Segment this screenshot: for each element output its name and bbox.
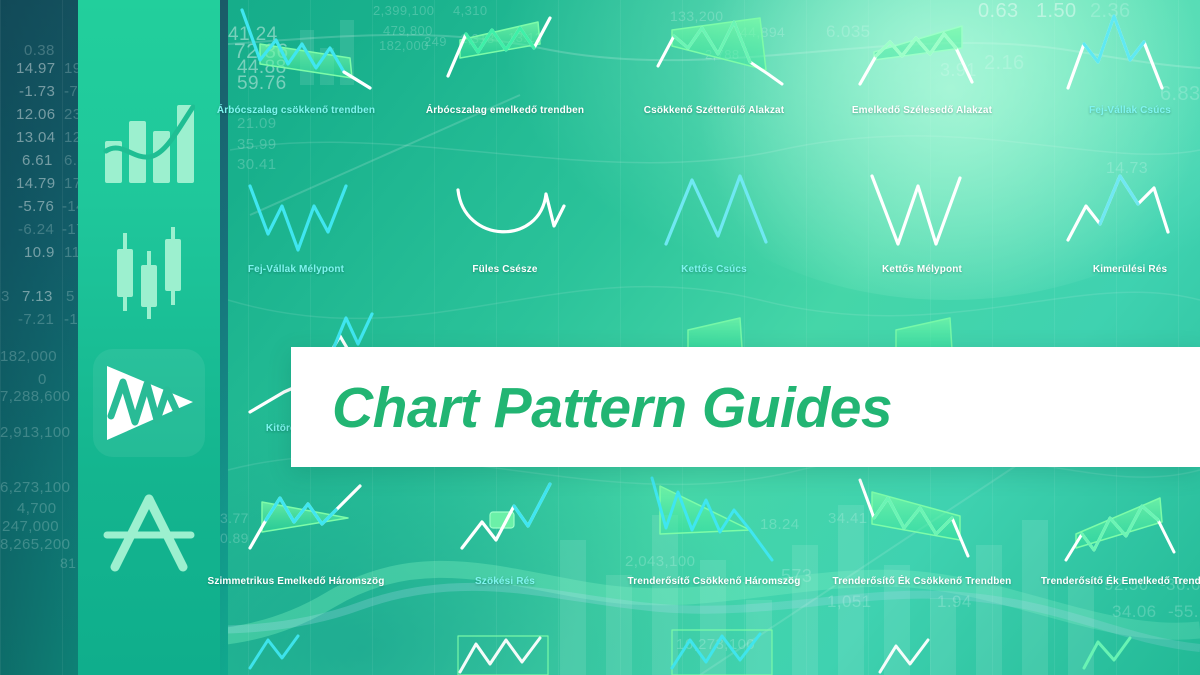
sidebar-item-pennant[interactable] (78, 338, 220, 468)
background-number: 247,000 (2, 518, 59, 535)
background-number: 13.04 (16, 129, 56, 146)
pattern-shape-bull-flag (448, 18, 550, 76)
pattern-shape-bear-flag (242, 10, 370, 88)
background-number: 182,000 (0, 348, 57, 365)
background-number: 81 (60, 555, 76, 571)
pattern-shape-head-shoulders-top (1068, 16, 1162, 88)
pattern-label[interactable]: Fej-Vállak Mélypont (248, 264, 344, 275)
pattern-shape-rising-broadening (860, 26, 972, 84)
pattern-label[interactable]: Füles Csésze (472, 264, 537, 275)
background-number: -5.76 (18, 198, 54, 215)
pattern-shape-rising-wedge-cont (1066, 498, 1174, 560)
pattern-shape-row5-peek (250, 630, 1130, 675)
candlestick-icon (109, 225, 189, 321)
background-number: 14.79 (16, 175, 56, 192)
pattern-label[interactable]: Kettős Mélypont (882, 264, 962, 275)
background-number: 7.13 (22, 288, 53, 305)
background-number: 7,288,600 (0, 388, 70, 405)
pattern-shape-double-top (666, 176, 766, 244)
background-number: -1 (64, 311, 78, 328)
pattern-shape-falling-broadening (658, 18, 782, 84)
pattern-label[interactable]: Trenderősítő Ék Csökkenő Trendben (833, 576, 1012, 587)
sidebar-item-candlestick[interactable] (78, 208, 220, 338)
background-number: 4,700 (17, 500, 57, 517)
pattern-label[interactable]: Csökkenő Szétterülő Alakzat (644, 105, 784, 116)
background-number: 14.97 (16, 60, 56, 77)
pattern-label[interactable]: Kettős Csúcs (681, 264, 747, 275)
pattern-label[interactable]: Árbócszalag csökkenő trendben (217, 105, 375, 116)
background-number: 8,265,200 (0, 536, 70, 553)
background-number: 3 (1, 288, 10, 305)
background-number: 6. (64, 152, 77, 169)
pattern-label[interactable]: Szimmetrikus Emelkedő Háromszög (208, 576, 385, 587)
pattern-label[interactable]: Emelkedő Szélesedő Alakzat (852, 105, 992, 116)
background-number: 2,913,100 (0, 424, 70, 441)
triangle-pattern-icon (103, 493, 195, 573)
pattern-label[interactable]: Trenderősítő Csökkenő Háromszög (627, 576, 800, 587)
background-number: -7.21 (18, 311, 54, 328)
sidebar-item-bar-chart-trend[interactable] (78, 78, 220, 208)
pattern-label[interactable]: Trenderősítő Ék Emelkedő Trendben (1041, 576, 1200, 587)
background-number: 6,273,100 (0, 479, 70, 496)
background-number: 12.06 (16, 106, 56, 123)
background-number: 0.38 (24, 42, 55, 59)
pennant-zigzag-icon (101, 360, 197, 446)
pattern-thumbnails (220, 0, 1200, 675)
pattern-label[interactable]: Szökési Rés (475, 576, 535, 587)
pattern-shape-sym-rising-triangle (250, 486, 360, 548)
background-number: -7 (64, 83, 78, 100)
page-title: Chart Pattern Guides (332, 379, 892, 437)
background-number: -6.24 (18, 221, 54, 238)
pattern-shape-double-bottom (872, 176, 960, 244)
background-number: -1.73 (19, 83, 55, 100)
pattern-shape-falling-wedge-cont (860, 480, 968, 556)
background-number: 0 (38, 371, 47, 388)
pattern-label[interactable]: Fej-Vállak Csúcs (1089, 105, 1171, 116)
pattern-shape-exhaustion-gap (1068, 176, 1168, 240)
icon-sidebar (78, 0, 220, 675)
sidebar-item-triangle-pattern[interactable] (78, 468, 220, 598)
poster-canvas: 0.3814.97-1.7312.0613.046.6114.79-5.76-6… (0, 0, 1200, 675)
pattern-label[interactable]: Kimerülési Rés (1093, 264, 1167, 275)
background-number: 10.9 (24, 244, 55, 261)
background-number: 6.61 (22, 152, 53, 169)
bar-chart-trend-icon (103, 101, 195, 185)
pattern-label[interactable]: Árbócszalag emelkedő trendben (426, 105, 584, 116)
pattern-shape-desc-cont-triangle (652, 478, 772, 560)
pattern-shape-runaway-gap (462, 484, 550, 548)
pattern-shape-cup-handle (458, 190, 564, 232)
background-number: 5 (66, 288, 75, 305)
pattern-shape-head-shoulders-bottom (250, 186, 346, 250)
